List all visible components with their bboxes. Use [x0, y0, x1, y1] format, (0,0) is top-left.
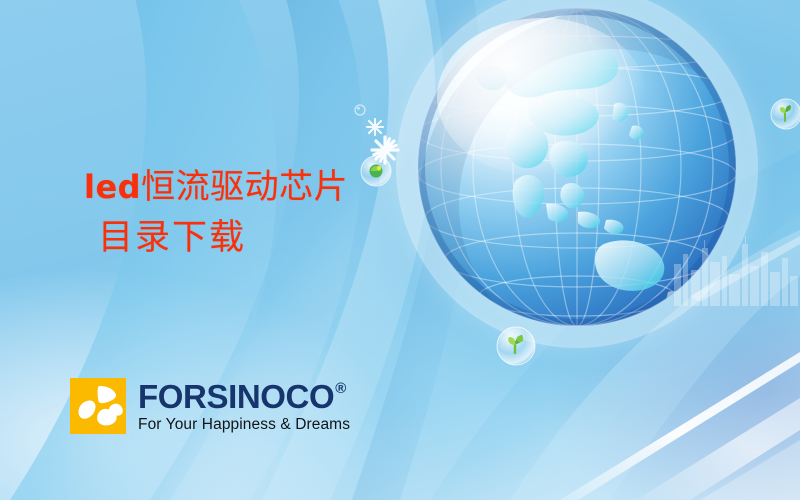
- brand-name: FORSINOCO®: [138, 380, 350, 413]
- bubble-leaf-icon: [770, 98, 800, 130]
- headline-text: led恒流驱动芯片 目录下载: [84, 166, 348, 260]
- city-skyline-icon: [670, 236, 800, 306]
- brand-tagline: For Your Happiness & Dreams: [138, 417, 350, 433]
- bubble-globe-icon: [360, 155, 392, 187]
- headline-line-2: 目录下载: [84, 216, 348, 261]
- brand-name-text: FORSINOCO: [138, 380, 334, 413]
- headline-cjk: 恒流驱动芯片: [141, 167, 348, 207]
- promo-banner: led恒流驱动芯片 目录下载 FORSINOCO® For Your Happi…: [0, 0, 800, 500]
- headline-line-1: led恒流驱动芯片: [84, 166, 348, 210]
- four-petal-pinwheel-icon: [70, 378, 126, 434]
- logo-wordmark: FORSINOCO® For Your Happiness & Dreams: [138, 380, 350, 433]
- registered-trademark-icon: ®: [335, 381, 346, 396]
- bubble-tiny-icon: [354, 104, 366, 116]
- headline-latin: led: [84, 168, 141, 206]
- sparkle-asterisk-small: [366, 118, 384, 136]
- company-logo[interactable]: FORSINOCO® For Your Happiness & Dreams: [70, 378, 350, 434]
- bubble-sprout-icon: [496, 326, 536, 366]
